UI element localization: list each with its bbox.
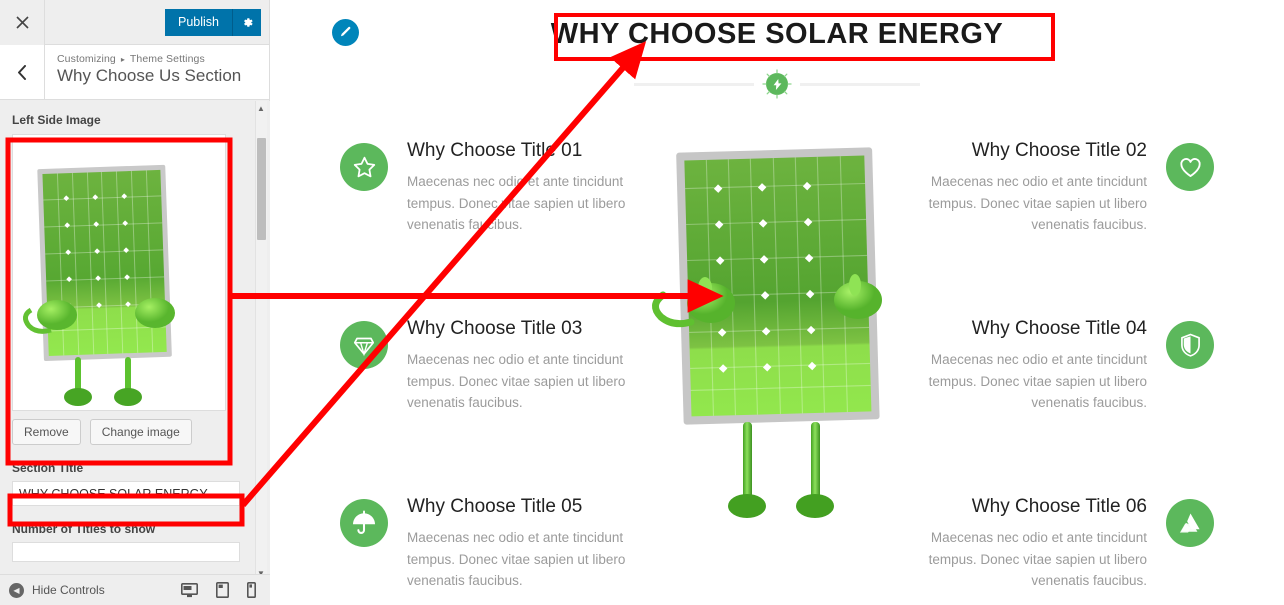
- tablet-preview-icon[interactable]: [216, 582, 229, 598]
- collapse-arrow-icon: ◀: [9, 583, 24, 598]
- feature-description: Maecenas nec odio et ante tincidunt temp…: [924, 349, 1147, 414]
- umbrella-icon: [340, 499, 388, 547]
- feature-item: Why Choose Title 04 Maecenas nec odio et…: [924, 318, 1214, 458]
- hide-controls-label: Hide Controls: [32, 583, 105, 597]
- feature-title: Why Choose Title 03: [407, 318, 630, 340]
- change-image-button[interactable]: Change image: [90, 419, 192, 445]
- green-solar-panel-character-thumb: [13, 135, 193, 410]
- feature-description: Maecenas nec odio et ante tincidunt temp…: [407, 171, 630, 236]
- breadcrumb-parent[interactable]: Theme Settings: [130, 53, 205, 65]
- number-of-titles-input[interactable]: [12, 542, 240, 562]
- feature-item: Why Choose Title 05 Maecenas nec odio et…: [340, 496, 630, 605]
- breadcrumb-separator: ▸: [119, 55, 127, 64]
- heart-outline-icon: [1166, 143, 1214, 191]
- image-preview-thumbnail[interactable]: [12, 134, 226, 411]
- customizer-titles: Customizing ▸ Theme Settings Why Choose …: [45, 45, 241, 99]
- site-preview-pane: WHY CHOOSE SOLAR ENERGY: [270, 0, 1284, 605]
- diamond-gem-icon: [340, 321, 388, 369]
- customizer-footer: ◀ Hide Controls: [0, 574, 270, 605]
- feature-title: Why Choose Title 05: [407, 496, 630, 518]
- sidebar-scrollbar-thumb[interactable]: [257, 138, 266, 240]
- number-of-titles-label: Number of Titles to show: [12, 522, 258, 536]
- remove-button[interactable]: Remove: [12, 419, 81, 445]
- divider-line-left: [634, 83, 754, 86]
- section-divider: [270, 73, 1284, 95]
- customizer-sidebar: Publish Customizing ▸ Theme: [0, 0, 270, 605]
- hide-controls-button[interactable]: ◀ Hide Controls: [9, 583, 105, 598]
- feature-title: Why Choose Title 04: [924, 318, 1147, 340]
- customizer-section-header: Customizing ▸ Theme Settings Why Choose …: [0, 45, 269, 100]
- feature-column-right: Why Choose Title 02 Maecenas nec odio et…: [924, 140, 1214, 605]
- feature-item: Why Choose Title 02 Maecenas nec odio et…: [924, 140, 1214, 280]
- publish-group: Publish: [165, 9, 261, 36]
- feature-description: Maecenas nec odio et ante tincidunt temp…: [407, 527, 630, 592]
- customizer-screen: Publish Customizing ▸ Theme: [0, 0, 1284, 605]
- image-action-buttons: Remove Change image: [12, 419, 258, 445]
- desktop-preview-icon[interactable]: [181, 582, 198, 598]
- feature-description: Maecenas nec odio et ante tincidunt temp…: [924, 171, 1147, 236]
- scroll-up-arrow-icon[interactable]: ▲: [255, 101, 267, 115]
- feature-description: Maecenas nec odio et ante tincidunt temp…: [407, 349, 630, 414]
- customizer-controls: Left Side Image: [0, 101, 270, 605]
- breadcrumb-root[interactable]: Customizing: [57, 53, 116, 65]
- lightning-bolt-sun-icon: [766, 73, 788, 95]
- thumbnail-canvas: [13, 135, 193, 410]
- close-x-icon[interactable]: [0, 0, 45, 45]
- feature-title: Why Choose Title 02: [924, 140, 1147, 162]
- feature-title: Why Choose Title 06: [924, 496, 1147, 518]
- drive-triangle-icon: [1166, 499, 1214, 547]
- feature-description: Maecenas nec odio et ante tincidunt temp…: [924, 527, 1147, 592]
- preview-section-title: WHY CHOOSE SOLAR ENERGY: [270, 18, 1284, 51]
- mobile-preview-icon[interactable]: [247, 582, 256, 598]
- chevron-left-icon[interactable]: [0, 45, 45, 99]
- image-field-label: Left Side Image: [12, 113, 258, 127]
- section-title-input[interactable]: [12, 481, 240, 506]
- feature-column-left: Why Choose Title 01 Maecenas nec odio et…: [340, 140, 630, 605]
- feature-item: Why Choose Title 01 Maecenas nec odio et…: [340, 140, 630, 280]
- breadcrumb: Customizing ▸ Theme Settings: [57, 53, 241, 65]
- hero-solar-panel-image: [633, 140, 921, 530]
- device-preview-group: [181, 582, 270, 598]
- customizer-header: Publish: [0, 0, 269, 45]
- publish-button[interactable]: Publish: [165, 9, 233, 36]
- shield-half-icon: [1166, 321, 1214, 369]
- feature-title: Why Choose Title 01: [407, 140, 630, 162]
- gear-icon[interactable]: [233, 9, 261, 36]
- feature-item: Why Choose Title 06 Maecenas nec odio et…: [924, 496, 1214, 605]
- page-title: Why Choose Us Section: [57, 66, 241, 86]
- section-title-label: Section Title: [12, 461, 258, 475]
- feature-item: Why Choose Title 03 Maecenas nec odio et…: [340, 318, 630, 458]
- divider-line-right: [800, 83, 920, 86]
- star-outline-icon: [340, 143, 388, 191]
